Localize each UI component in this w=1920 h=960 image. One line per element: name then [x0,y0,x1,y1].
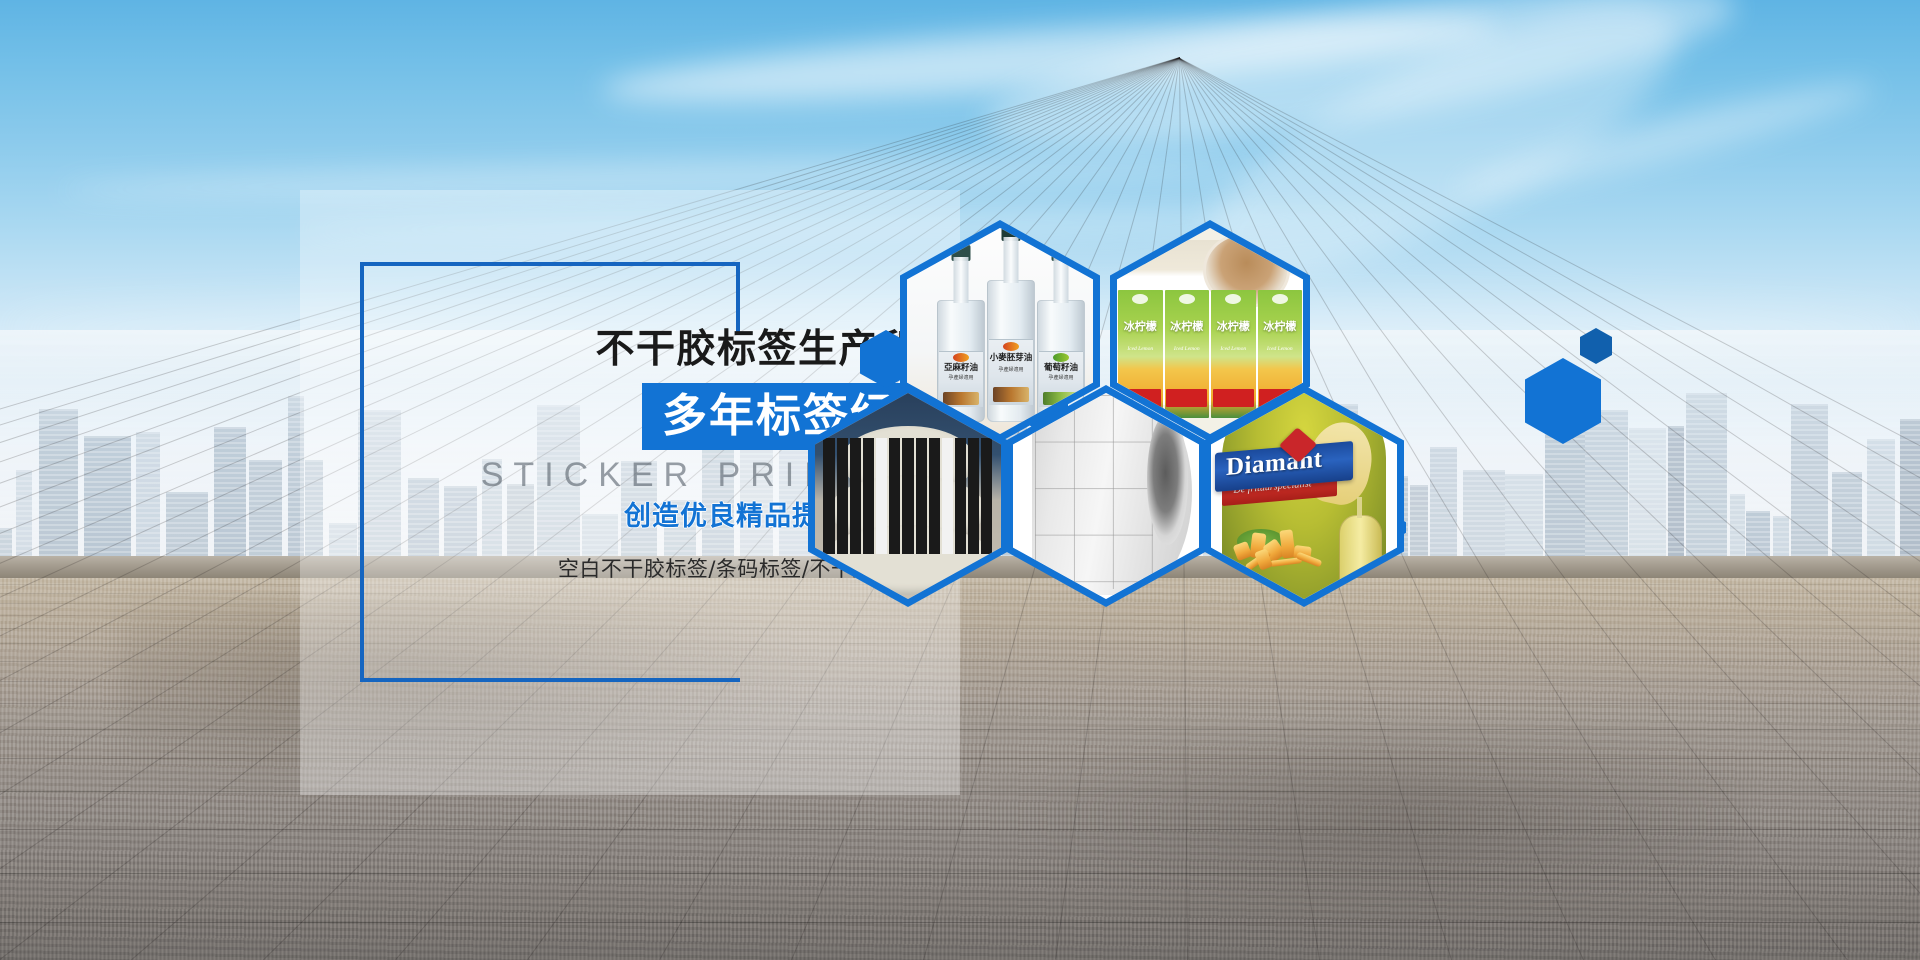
lemon-label-english: Iced Lemon [1211,346,1256,352]
pavement-joint [0,791,1920,792]
barcode-strip [837,438,848,553]
photo-barcode-label-roll [815,393,1001,599]
hex-dot-right-small-icon [1580,328,1612,364]
barcode-strip [929,438,940,553]
barcode-strip [942,438,953,553]
bracket-bottom-line [360,678,660,682]
lemon-label-title: 冰柠檬 [1211,318,1256,334]
lemon-label-english: Iced Lemon [1165,346,1210,352]
hexagon-product-cluster: 亞麻籽油 孕產婦適用 小麥胚芽油 孕產婦適用 [980,230,1680,700]
bottle-name: 小麥胚芽油 [989,351,1033,363]
photo-diamant-label: Dé frituurspecialist Diamant [1211,393,1397,599]
bottle-sub: 孕產婦適用 [939,374,983,381]
barcode-strip [981,438,992,553]
barcode-strip [889,438,900,553]
bracket-bottom-right-stub [660,678,740,682]
barcode-strip [902,438,913,553]
bracket-top-right-stub [736,262,740,334]
hex-dot-right-large-icon [1525,358,1601,444]
barcode-strip [850,438,861,553]
lemon-label-english: Iced Lemon [1258,346,1303,352]
lemon-label-english: Iced Lemon [1118,346,1163,352]
barcode-strip [955,438,966,553]
bottle-name: 亞麻籽油 [939,361,983,373]
bracket-left-line [360,262,364,682]
photo-blank-label-roll [1013,393,1199,599]
pavement-joint [0,703,1920,704]
pavement-joint [0,922,1920,923]
pavement-joint [0,758,1920,759]
pavement-joint [0,873,1920,874]
lemon-label-title: 冰柠檬 [1165,318,1210,334]
barcode-strip [863,438,874,553]
bottle-name: 葡萄籽油 [1039,361,1083,373]
pavement-joint [0,729,1920,730]
barcode-strip [968,438,979,553]
barcode-strip [823,438,834,553]
lemon-label-title: 冰柠檬 [1258,318,1303,334]
lemon-label-title: 冰柠檬 [1118,318,1163,334]
bottle-sub: 孕產婦適用 [1039,374,1083,381]
bottle-sub: 孕產婦適用 [989,366,1033,373]
promo-banner: 不干胶标签生产印刷 多年标签经验 STICKER PRINTING 创造优良精品… [0,0,1920,960]
barcode-strip [916,438,927,553]
barcode-strip [876,438,887,553]
bracket-top-line [360,262,740,266]
